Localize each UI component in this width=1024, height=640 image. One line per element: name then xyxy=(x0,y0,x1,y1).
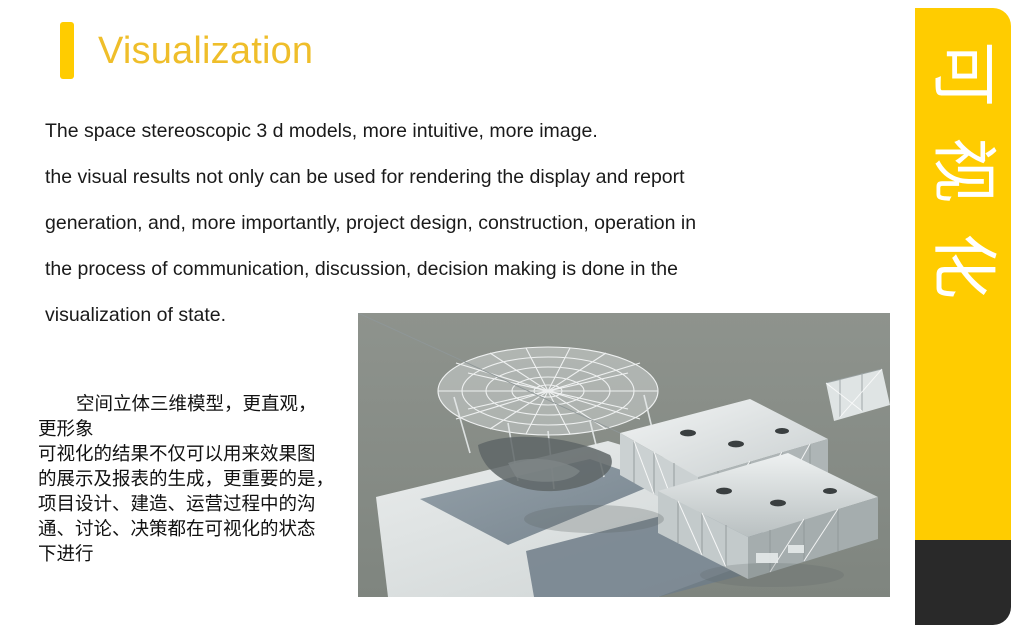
chinese-line: 的展示及报表的生成，更重要的是， xyxy=(38,467,358,492)
chinese-line: 空间立体三维模型，更直观， xyxy=(38,392,358,417)
english-paragraph: The space stereoscopic 3 d models, more … xyxy=(45,108,875,338)
side-tab-char: 可 xyxy=(915,41,1011,107)
english-line: generation, and, more importantly, proje… xyxy=(45,200,875,246)
chinese-line: 通、讨论、决策都在可视化的状态 xyxy=(38,517,358,542)
english-line: The space stereoscopic 3 d models, more … xyxy=(45,108,875,154)
chinese-line: 下进行 xyxy=(38,542,358,567)
title-accent-bar xyxy=(60,22,74,79)
side-tab-char: 化 xyxy=(915,233,1011,299)
architectural-render-image xyxy=(358,313,890,597)
english-line: the visual results not only can be used … xyxy=(45,154,875,200)
page-title: Visualization xyxy=(98,32,313,70)
chinese-line: 更形象 xyxy=(38,417,358,442)
chinese-line: 可视化的结果不仅可以用来效果图 xyxy=(38,442,358,467)
chinese-paragraph: 空间立体三维模型，更直观， 更形象 可视化的结果不仅可以用来效果图 的展示及报表… xyxy=(38,392,358,567)
side-tab-label: 可 视 化 xyxy=(915,26,1011,346)
page-title-row: Visualization xyxy=(60,22,313,79)
side-tab-dark-panel xyxy=(915,540,1011,625)
chinese-line: 项目设计、建造、运营过程中的沟 xyxy=(38,492,358,517)
side-tab-char: 视 xyxy=(915,137,1011,203)
slide-canvas: Visualization The space stereoscopic 3 d… xyxy=(0,0,1024,640)
side-tab: 可 视 化 xyxy=(915,8,1011,625)
english-line: the process of communication, discussion… xyxy=(45,246,875,292)
